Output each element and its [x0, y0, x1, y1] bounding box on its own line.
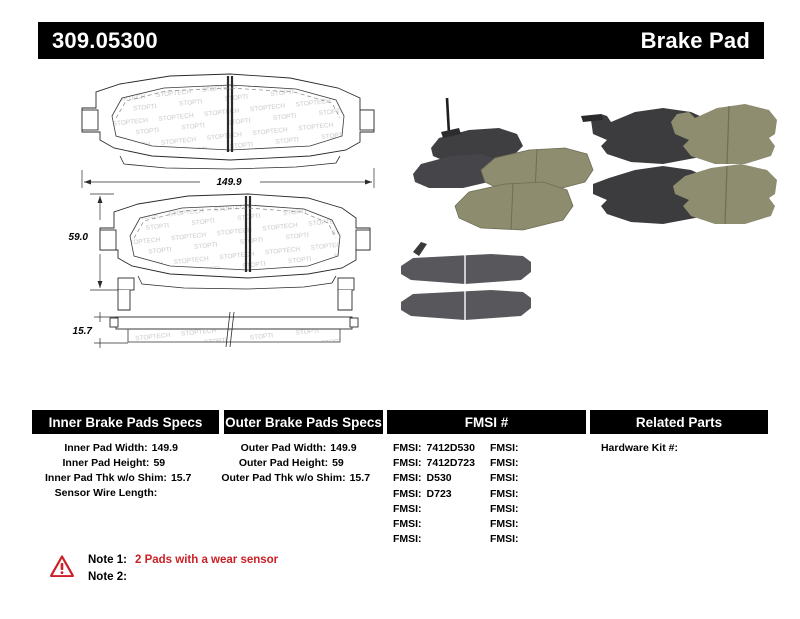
fmsi-row: FMSI: — [490, 487, 587, 502]
fmsi-value — [519, 532, 524, 547]
column-header-outer: Outer Brake Pads Specs — [224, 410, 383, 434]
part-number: 309.05300 — [52, 28, 158, 54]
spec-value: 59 — [149, 456, 187, 471]
fmsi-row: FMSI: — [490, 471, 587, 486]
fmsi-value: D723 — [422, 487, 452, 502]
fmsi-label: FMSI: — [393, 456, 422, 471]
column-header-fmsi: FMSI # — [387, 410, 586, 434]
fmsi-row: FMSI: — [393, 532, 490, 547]
fmsi-label: FMSI: — [490, 487, 519, 502]
note-row-2: Note 2: — [88, 569, 278, 586]
note-1-label: Note 1: — [88, 552, 127, 569]
spec-row: Inner Pad Height: 59 — [32, 456, 218, 471]
column-header-related-parts: Related Parts — [590, 410, 768, 434]
fmsi-value: D530 — [422, 471, 452, 486]
fmsi-value — [519, 487, 524, 502]
drawing-top-plan-view — [82, 74, 374, 169]
fmsi-label: FMSI: — [490, 456, 519, 471]
spec-label: Sensor Wire Length: — [55, 486, 158, 501]
dim-height-label: 59.0 — [69, 232, 89, 243]
drawing-middle-plan-view — [100, 194, 370, 290]
fmsi-label: FMSI: — [490, 502, 519, 517]
fmsi-row: FMSI: — [490, 502, 587, 517]
fmsi-label: FMSI: — [393, 532, 422, 547]
spec-value: 15.7 — [346, 471, 384, 486]
note-lines: Note 1: 2 Pads with a wear sensor Note 2… — [88, 552, 278, 586]
spec-row: Outer Pad Width: 149.9 — [222, 441, 383, 456]
fmsi-label: FMSI: — [393, 517, 422, 532]
spec-label: Outer Pad Width: — [241, 441, 327, 456]
column-header-inner: Inner Brake Pads Specs — [32, 410, 219, 434]
photo-edge-views — [401, 242, 531, 320]
spec-label: Inner Pad Height: — [63, 456, 150, 471]
fmsi-value — [519, 441, 524, 456]
photo-flat-pad-set — [581, 104, 777, 224]
spec-value: 149.9 — [326, 441, 364, 456]
spec-row: Inner Pad Width: 149.9 — [32, 441, 218, 456]
fmsi-value — [422, 517, 427, 532]
spec-row: Outer Pad Thk w/o Shim: 15.7 — [222, 471, 383, 486]
note-2-label: Note 2: — [88, 569, 127, 586]
fmsi-column: FMSI: 7412D530 FMSI: 7412D723 FMSI: D530 — [387, 441, 587, 547]
spec-label: Inner Pad Thk w/o Shim: — [45, 471, 167, 486]
fmsi-row: FMSI: D530 — [393, 471, 490, 486]
spec-value: 149.9 — [148, 441, 186, 456]
fmsi-row: FMSI: — [490, 441, 587, 456]
fmsi-sub-column-left: FMSI: 7412D530 FMSI: 7412D723 FMSI: D530 — [393, 441, 490, 547]
fmsi-row: FMSI: — [393, 502, 490, 517]
fmsi-value — [519, 471, 524, 486]
dim-thickness-label: 15.7 — [73, 326, 93, 337]
fmsi-row: FMSI: — [490, 517, 587, 532]
spec-row: Outer Pad Height: 59 — [222, 456, 383, 471]
related-part-row: Hardware Kit #: — [591, 441, 768, 456]
notes-section: Note 1: 2 Pads with a wear sensor Note 2… — [50, 552, 278, 586]
dim-width-label: 149.9 — [216, 177, 241, 188]
fmsi-row: FMSI: 7412D530 — [393, 441, 490, 456]
dimension-width: 149.9 — [82, 168, 374, 188]
fmsi-label: FMSI: — [393, 471, 422, 486]
fmsi-value: 7412D530 — [422, 441, 475, 456]
spec-row: Inner Pad Thk w/o Shim: 15.7 — [32, 471, 218, 486]
fmsi-label: FMSI: — [393, 487, 422, 502]
fmsi-value — [422, 502, 427, 517]
drawings-svg: STOPTECH STOPTECH — [60, 72, 400, 392]
technical-drawings: STOPTECH STOPTECH — [60, 72, 400, 392]
drawing-bottom-side-view — [110, 290, 358, 347]
spec-sheet-page: 309.05300 Brake Pad STOPTECH STOPTECH — [0, 0, 800, 619]
fmsi-label: FMSI: — [490, 532, 519, 547]
fmsi-value — [519, 517, 524, 532]
header-bar: 309.05300 Brake Pad — [38, 22, 764, 59]
fmsi-value — [422, 532, 427, 547]
spec-value — [157, 486, 195, 501]
fmsi-value — [519, 456, 524, 471]
spec-row: Sensor Wire Length: — [32, 486, 218, 501]
fmsi-sub-column-right: FMSI: FMSI: FMSI: FMSI: — [490, 441, 587, 547]
warning-triangle-icon — [50, 555, 74, 577]
fmsi-label: FMSI: — [490, 471, 519, 486]
page-title: Brake Pad — [641, 28, 750, 54]
spec-label: Inner Pad Width: — [64, 441, 147, 456]
fmsi-label: FMSI: — [393, 441, 422, 456]
fmsi-row: FMSI: D723 — [393, 487, 490, 502]
fmsi-value — [519, 502, 524, 517]
outer-specs-column: Outer Pad Width: 149.9 Outer Pad Height:… — [222, 441, 383, 547]
note-row-1: Note 1: 2 Pads with a wear sensor — [88, 552, 278, 569]
table-header-row: Inner Brake Pads Specs Outer Brake Pads … — [32, 410, 768, 434]
fmsi-label: FMSI: — [490, 441, 519, 456]
photo-angled-pad-set — [413, 98, 593, 230]
fmsi-label: FMSI: — [393, 502, 422, 517]
fmsi-row: FMSI: — [490, 456, 587, 471]
fmsi-value: 7412D723 — [422, 456, 475, 471]
photos-svg — [395, 78, 780, 378]
note-2-text — [127, 569, 135, 586]
spec-value: 15.7 — [167, 471, 205, 486]
spec-value: 59 — [328, 456, 366, 471]
table-body: Inner Pad Width: 149.9 Inner Pad Height:… — [32, 434, 768, 547]
fmsi-row: FMSI: — [490, 532, 587, 547]
related-parts-column: Hardware Kit #: — [591, 441, 768, 547]
related-part-label: Hardware Kit #: — [601, 442, 678, 454]
spec-label: Outer Pad Thk w/o Shim: — [221, 471, 345, 486]
fmsi-label: FMSI: — [490, 517, 519, 532]
spec-label: Outer Pad Height: — [239, 456, 328, 471]
note-1-text: 2 Pads with a wear sensor — [127, 552, 278, 569]
fmsi-row: FMSI: 7412D723 — [393, 456, 490, 471]
product-photos — [395, 78, 780, 378]
inner-specs-column: Inner Pad Width: 149.9 Inner Pad Height:… — [32, 441, 218, 547]
specs-table: Inner Brake Pads Specs Outer Brake Pads … — [32, 410, 768, 547]
fmsi-row: FMSI: — [393, 517, 490, 532]
